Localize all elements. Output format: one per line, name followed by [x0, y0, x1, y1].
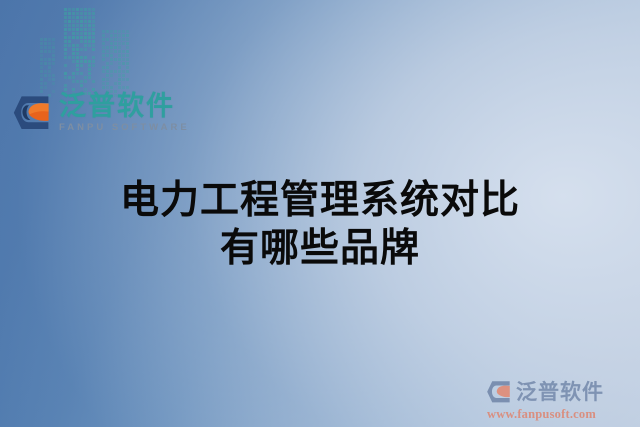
page-title: 电力工程管理系统对比 有哪些品牌 — [0, 177, 640, 273]
watermark-url: www.fanpusoft.com — [487, 407, 632, 422]
page-title-line-1: 电力工程管理系统对比 — [0, 177, 640, 225]
fanpu-shield-icon-watermark — [486, 379, 512, 405]
pixel-bar-chart-decoration — [38, 0, 142, 98]
page-title-line-2: 有哪些品牌 — [0, 225, 640, 273]
promo-banner: 泛普软件 FANPU SOFTWARE 电力工程管理系统对比 有哪些品牌 泛普软… — [0, 0, 640, 427]
brand-name-cn: 泛普软件 — [59, 93, 190, 120]
brand-name-en: FANPU SOFTWARE — [59, 123, 190, 133]
brand-logo: 泛普软件 FANPU SOFTWARE — [12, 93, 190, 133]
watermark-logo-row: 泛普软件 — [486, 379, 632, 405]
fanpu-shield-icon — [12, 93, 52, 133]
brand-wordmark: 泛普软件 FANPU SOFTWARE — [59, 93, 190, 133]
watermark-brand-name: 泛普软件 — [516, 382, 604, 403]
watermark: 泛普软件 www.fanpusoft.com — [486, 379, 632, 422]
